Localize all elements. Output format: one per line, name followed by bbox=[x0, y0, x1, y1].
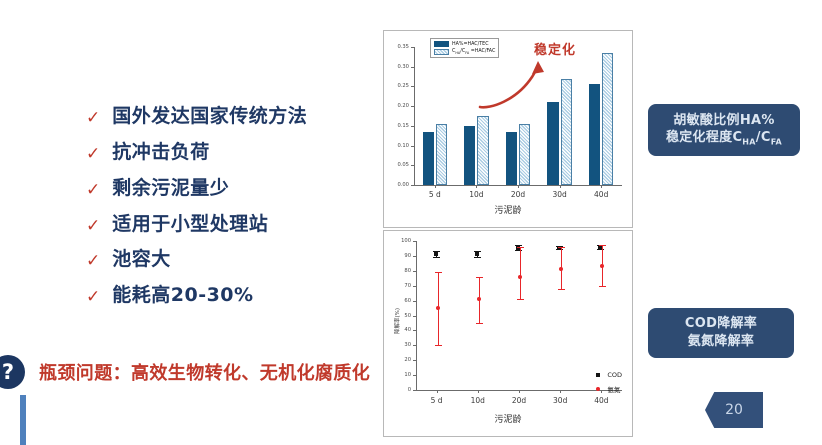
data-point bbox=[518, 275, 522, 279]
y-tick-label: 0.05 bbox=[384, 162, 409, 168]
y-tick-label: 10 bbox=[392, 372, 411, 378]
callout-humic-acid: 胡敏酸比例HA% 稳定化程度CHA/CFA bbox=[648, 104, 800, 156]
y-tick-label: 30 bbox=[392, 342, 411, 348]
callout-degradation: COD降解率 氨氮降解率 bbox=[648, 308, 794, 358]
check-icon: ✓ bbox=[86, 289, 100, 306]
error-cap-bottom bbox=[435, 345, 442, 346]
data-point bbox=[600, 264, 604, 268]
y-tick bbox=[413, 271, 416, 272]
legend-label: CHA/CFA =HAC/FAC bbox=[452, 49, 495, 55]
x-tick bbox=[435, 185, 436, 188]
callout-line2-mid: /C bbox=[756, 130, 771, 145]
callout-line2-sub2: FA bbox=[771, 138, 782, 147]
y-tick bbox=[411, 86, 414, 87]
bar-series-1 bbox=[464, 126, 475, 185]
y-tick-label: 80 bbox=[392, 268, 411, 274]
x-tick-label: 30d bbox=[540, 190, 580, 199]
legend-label: COD bbox=[607, 371, 622, 379]
check-icon: ✓ bbox=[86, 218, 100, 235]
bar-series-1 bbox=[506, 132, 517, 185]
y-tick bbox=[411, 67, 414, 68]
y-tick bbox=[411, 47, 414, 48]
check-icon: ✓ bbox=[86, 253, 100, 270]
error-cap-top bbox=[517, 247, 524, 248]
y-tick bbox=[411, 185, 414, 186]
y-axis bbox=[414, 47, 415, 185]
chart-legend: COD氨氮 bbox=[596, 371, 622, 394]
y-tick bbox=[411, 165, 414, 166]
list-item-label: 剩余污泥量少 bbox=[112, 178, 229, 200]
callout-line-1: 胡敏酸比例HA% bbox=[673, 112, 774, 130]
bullet-list: ✓ 国外发达国家传统方法 ✓ 抗冲击负荷 ✓ 剩余污泥量少 ✓ 适用于小型处理站… bbox=[86, 106, 386, 321]
error-cap-top bbox=[599, 245, 606, 246]
y-tick-label: 0.10 bbox=[384, 143, 409, 149]
list-item: ✓ 能耗高20-30% bbox=[86, 285, 386, 307]
slide-canvas: ✓ 国外发达国家传统方法 ✓ 抗冲击负荷 ✓ 剩余污泥量少 ✓ 适用于小型处理站… bbox=[0, 0, 822, 445]
y-tick bbox=[413, 375, 416, 376]
x-tick bbox=[437, 390, 438, 393]
x-tick bbox=[601, 185, 602, 188]
y-tick bbox=[413, 360, 416, 361]
bar-series-1 bbox=[423, 132, 434, 185]
legend-item: CHA/CFA =HAC/FAC bbox=[434, 49, 495, 55]
y-tick-label: 0.00 bbox=[384, 182, 409, 188]
error-cap-bottom bbox=[474, 257, 481, 258]
bar-series-2 bbox=[436, 124, 447, 185]
y-tick bbox=[413, 256, 416, 257]
y-tick-label: 0.15 bbox=[384, 123, 409, 129]
x-tick bbox=[560, 185, 561, 188]
error-cap-top bbox=[435, 272, 442, 273]
y-tick-label: 0.30 bbox=[384, 64, 409, 70]
bottleneck-text: 瓶颈问题：高效生物转化、无机化腐质化 bbox=[39, 359, 370, 385]
y-axis-title: 降解率(%) bbox=[393, 307, 401, 333]
bar-series-1 bbox=[589, 84, 600, 185]
bar-series-2 bbox=[561, 79, 572, 185]
callout-line-2: 稳定化程度CHA/CFA bbox=[666, 129, 782, 148]
list-item: ✓ 池容大 bbox=[86, 249, 386, 271]
bar-series-2 bbox=[477, 116, 488, 185]
x-tick-label: 10d bbox=[458, 396, 498, 405]
error-cap-top bbox=[476, 277, 483, 278]
question-mark-icon: ? bbox=[0, 355, 25, 389]
x-tick-label: 40d bbox=[581, 396, 621, 405]
legend-label: HA%=HAC/TEC bbox=[452, 42, 489, 47]
callout-line-1: COD降解率 bbox=[685, 315, 757, 333]
bar-plot-area: 0.000.050.100.150.200.250.300.355 d10d20… bbox=[384, 31, 632, 227]
x-tick bbox=[519, 390, 520, 393]
x-tick bbox=[560, 390, 561, 393]
data-point bbox=[475, 252, 479, 256]
y-tick-label: 60 bbox=[392, 298, 411, 304]
curved-arrow-icon bbox=[476, 55, 558, 111]
legend-label: 氨氮 bbox=[607, 384, 620, 394]
legend-item: COD bbox=[596, 371, 622, 379]
list-item-label: 能耗高20-30% bbox=[112, 285, 253, 307]
y-tick-label: 0.20 bbox=[384, 103, 409, 109]
error-cap-bottom bbox=[433, 257, 440, 258]
error-cap-bottom bbox=[476, 323, 483, 324]
y-tick bbox=[413, 286, 416, 287]
list-item-label: 池容大 bbox=[112, 249, 171, 271]
check-icon: ✓ bbox=[86, 182, 100, 199]
check-icon: ✓ bbox=[86, 146, 100, 163]
degradation-rate-chart: 0102030405060708090100降解率(%)5 d10d20d30d… bbox=[383, 230, 633, 437]
x-tick-label: 40d bbox=[581, 190, 621, 199]
y-tick-label: 70 bbox=[392, 283, 411, 289]
legend-swatch bbox=[434, 41, 449, 47]
list-item-label: 适用于小型处理站 bbox=[112, 214, 268, 236]
y-tick bbox=[413, 301, 416, 302]
bottleneck-callout: ? 瓶颈问题：高效生物转化、无机化腐质化 bbox=[0, 355, 370, 389]
error-cap-bottom bbox=[599, 286, 606, 287]
callout-line2-prefix: 稳定化程度C bbox=[666, 130, 742, 145]
x-tick-label: 30d bbox=[540, 396, 580, 405]
scatter-plot-area: 0102030405060708090100降解率(%)5 d10d20d30d… bbox=[384, 231, 632, 436]
list-item: ✓ 抗冲击负荷 bbox=[86, 142, 386, 164]
y-tick bbox=[413, 390, 416, 391]
y-tick-label: 0 bbox=[392, 387, 411, 393]
x-axis-title: 污泥龄 bbox=[384, 412, 632, 425]
y-tick-label: 100 bbox=[392, 238, 411, 244]
check-icon: ✓ bbox=[86, 110, 100, 127]
x-tick-label: 5 d bbox=[415, 190, 455, 199]
data-point bbox=[559, 267, 563, 271]
legend-marker bbox=[596, 373, 600, 377]
list-item-label: 抗冲击负荷 bbox=[112, 142, 210, 164]
x-axis-title: 污泥龄 bbox=[384, 203, 632, 216]
y-tick bbox=[411, 106, 414, 107]
data-point bbox=[434, 252, 438, 256]
bar-series-2 bbox=[519, 124, 530, 185]
list-item: ✓ 国外发达国家传统方法 bbox=[86, 106, 386, 128]
x-tick bbox=[478, 390, 479, 393]
x-tick bbox=[476, 185, 477, 188]
legend-item: 氨氮 bbox=[596, 384, 622, 394]
humic-acid-bar-chart: 0.000.050.100.150.200.250.300.355 d10d20… bbox=[383, 30, 633, 228]
y-tick bbox=[413, 316, 416, 317]
callout-line2-sub1: HA bbox=[742, 138, 756, 147]
data-point bbox=[477, 297, 481, 301]
legend-item: HA%=HAC/TEC bbox=[434, 41, 495, 47]
error-bar bbox=[520, 247, 521, 299]
legend-marker bbox=[596, 387, 600, 391]
accent-bar bbox=[20, 395, 26, 445]
callout-line-2: 氨氮降解率 bbox=[688, 333, 755, 351]
y-tick bbox=[411, 126, 414, 127]
data-point bbox=[436, 306, 440, 310]
error-cap-top bbox=[558, 247, 565, 248]
y-tick bbox=[413, 345, 416, 346]
y-tick-label: 90 bbox=[392, 253, 411, 259]
x-tick-label: 20d bbox=[499, 396, 539, 405]
bar-series-1 bbox=[547, 102, 558, 185]
y-tick-label: 0.25 bbox=[384, 83, 409, 89]
y-tick-label: 20 bbox=[392, 357, 411, 363]
y-tick bbox=[413, 241, 416, 242]
list-item: ✓ 适用于小型处理站 bbox=[86, 214, 386, 236]
x-tick-label: 10d bbox=[456, 190, 496, 199]
y-tick bbox=[413, 330, 416, 331]
page-number-badge: 20 bbox=[705, 392, 763, 428]
y-tick bbox=[411, 146, 414, 147]
list-item: ✓ 剩余污泥量少 bbox=[86, 178, 386, 200]
error-cap-bottom bbox=[558, 289, 565, 290]
list-item-label: 国外发达国家传统方法 bbox=[112, 106, 307, 128]
x-tick bbox=[518, 185, 519, 188]
error-cap-bottom bbox=[517, 299, 524, 300]
bar-series-2 bbox=[602, 53, 613, 185]
x-tick-label: 20d bbox=[498, 190, 538, 199]
y-axis bbox=[416, 241, 417, 390]
x-tick-label: 5 d bbox=[417, 396, 457, 405]
y-tick-label: 0.35 bbox=[384, 44, 409, 50]
legend-swatch bbox=[434, 49, 449, 55]
